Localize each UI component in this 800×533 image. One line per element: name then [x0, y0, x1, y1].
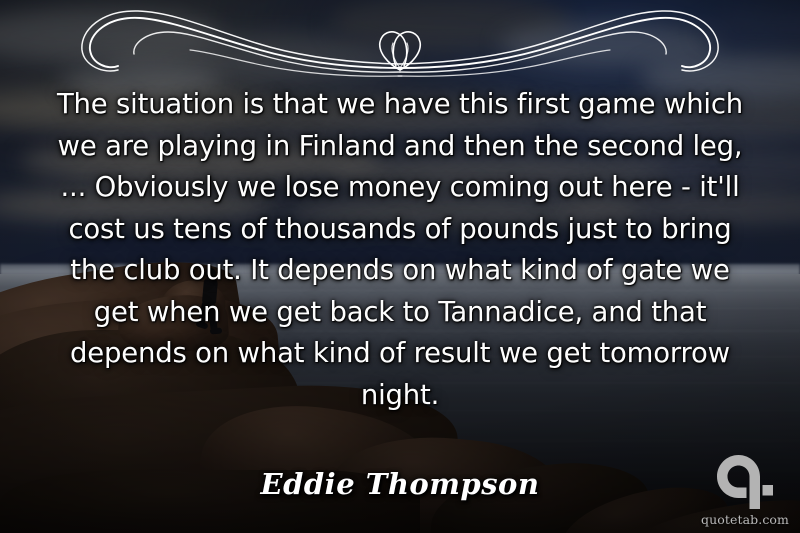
ornament-flourish-divider [60, 6, 740, 82]
author-name: Eddie Thompson [261, 467, 540, 501]
quote-line: depends on what kind of result we get to… [40, 333, 760, 375]
quote-text: The situation is that we have this first… [40, 84, 760, 416]
watermark[interactable]: quotetab.com [702, 447, 788, 527]
quotetab-q-logo-icon[interactable] [717, 455, 773, 509]
quote-line: ... Obviously we lose money coming out h… [40, 167, 760, 209]
quote-line: the club out. It depends on what kind of… [40, 250, 760, 292]
quote-line: we are playing in Finland and then the s… [40, 126, 760, 168]
quote-card: The situation is that we have this first… [0, 0, 800, 533]
quote-line: The situation is that we have this first… [40, 84, 760, 126]
quote-line: night. [40, 375, 760, 417]
quote-line: cost us tens of thousands of pounds just… [40, 209, 760, 251]
watermark-site-label[interactable]: quotetab.com [701, 512, 789, 527]
quote-line: get when we get back to Tannadice, and t… [40, 292, 760, 334]
